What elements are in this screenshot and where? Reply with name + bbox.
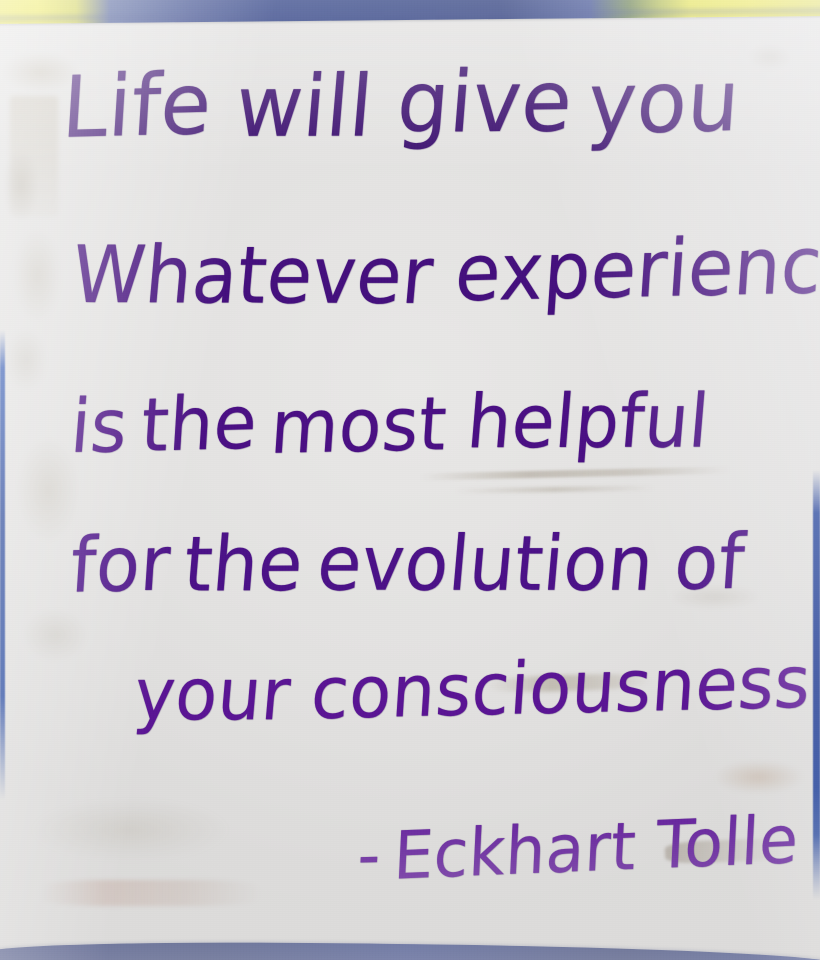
- quote-word: evolution: [314, 519, 658, 608]
- quote-word: will: [232, 57, 377, 157]
- quote-line-2: Whateverexperience: [69, 223, 820, 322]
- quote-word: Whatever: [68, 229, 437, 322]
- quote-word: experience: [452, 218, 820, 319]
- quote-word: you: [585, 52, 743, 154]
- quote-word: your: [131, 652, 294, 736]
- attribution-dash: -: [355, 816, 383, 894]
- quote-word: is: [68, 383, 131, 470]
- quote-word: the: [139, 380, 260, 469]
- quote-word: for: [68, 518, 174, 609]
- quote-word: give: [393, 52, 576, 153]
- attribution-author: Eckhart Tolle: [391, 801, 799, 895]
- quote-line-5: yourconsciousness: [132, 645, 813, 736]
- quote-text-block: Lifewillgiveyou Whateverexperience isthe…: [0, 0, 820, 960]
- quote-poster: Lifewillgiveyou Whateverexperience isthe…: [0, 0, 820, 960]
- quote-word: the: [181, 519, 307, 609]
- quote-word: consciousness: [308, 640, 813, 736]
- quote-line-3: isthemosthelpful: [68, 376, 712, 471]
- quote-word: most: [268, 381, 450, 471]
- quote-line-1: Lifewillgiveyou: [59, 51, 743, 160]
- quote-word: Life: [59, 55, 214, 158]
- quote-word: helpful: [464, 378, 712, 465]
- quote-line-4: fortheevolutionof: [67, 515, 748, 611]
- quote-word: of: [672, 517, 748, 607]
- quote-attribution: -Eckhart Tolle: [355, 806, 800, 895]
